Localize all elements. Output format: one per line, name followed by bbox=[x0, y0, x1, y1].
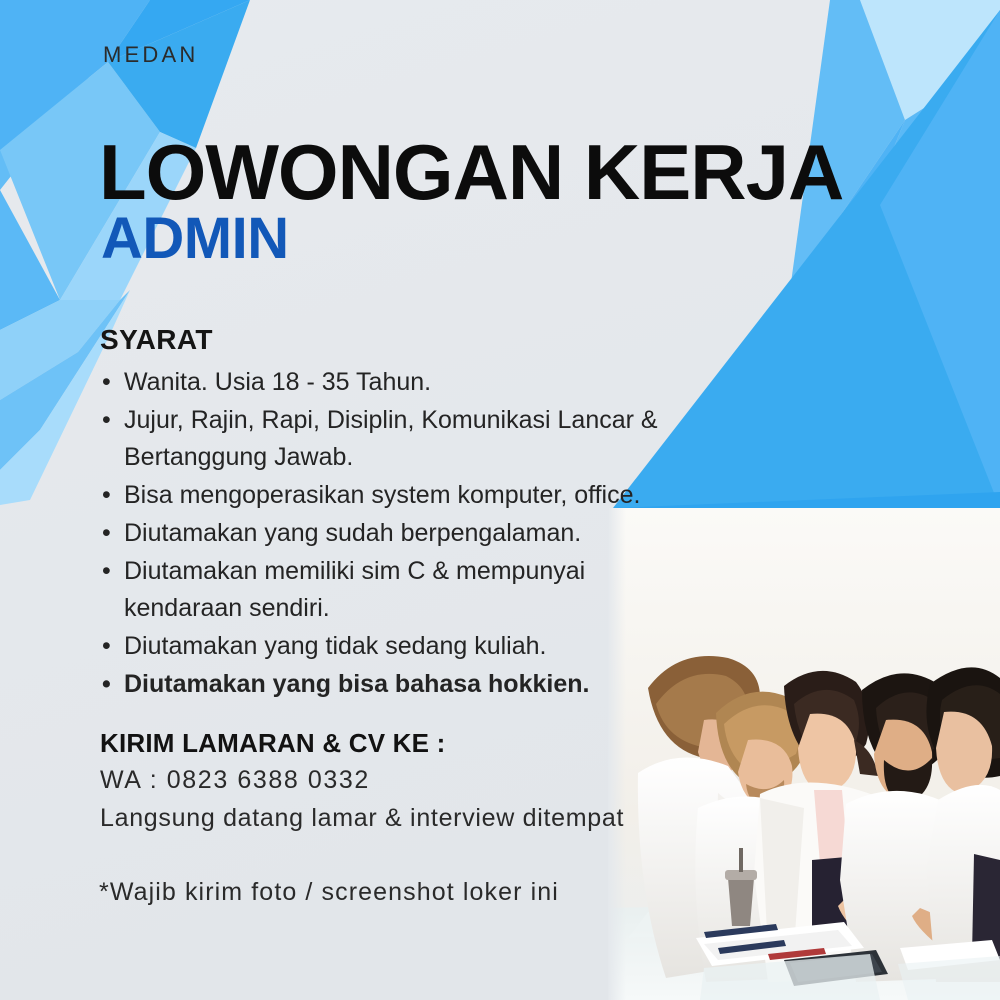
bullet-icon: • bbox=[102, 628, 111, 665]
location-label: MEDAN bbox=[103, 42, 198, 68]
list-item-text: Diutamakan memiliki sim C & mempunyai ke… bbox=[124, 557, 585, 622]
list-item: • Diutamakan yang bisa bahasa hokkien. bbox=[100, 666, 700, 703]
list-item-text: Jujur, Rajin, Rapi, Disiplin, Komunikasi… bbox=[124, 406, 658, 471]
walk-in-note: Langsung datang lamar & interview ditemp… bbox=[100, 804, 624, 833]
list-item: • Diutamakan memiliki sim C & mempunyai … bbox=[100, 553, 700, 627]
page-title: LOWONGAN KERJA bbox=[99, 130, 843, 214]
list-item-text: Wanita. Usia 18 - 35 Tahun. bbox=[124, 368, 431, 396]
list-item-text: Diutamakan yang sudah berpengalaman. bbox=[124, 519, 581, 547]
bullet-icon: • bbox=[102, 666, 111, 703]
bullet-icon: • bbox=[102, 553, 111, 590]
job-poster: MEDAN LOWONGAN KERJA ADMIN SYARAT • Wani… bbox=[0, 0, 1000, 1000]
contact-heading: KIRIM LAMARAN & CV KE : bbox=[100, 728, 445, 759]
list-item: • Diutamakan yang sudah berpengalaman. bbox=[100, 515, 700, 552]
bullet-icon: • bbox=[102, 402, 111, 439]
list-item: • Wanita. Usia 18 - 35 Tahun. bbox=[100, 364, 700, 401]
bullet-icon: • bbox=[102, 515, 111, 552]
list-item-text: Bisa mengoperasikan system komputer, off… bbox=[124, 481, 640, 509]
bullet-icon: • bbox=[102, 364, 111, 401]
bullet-icon: • bbox=[102, 477, 111, 514]
footnote: *Wajib kirim foto / screenshot loker ini bbox=[99, 878, 559, 907]
requirements-heading: SYARAT bbox=[100, 324, 213, 356]
job-role-title: ADMIN bbox=[101, 208, 289, 270]
poster-content: MEDAN LOWONGAN KERJA ADMIN SYARAT • Wani… bbox=[0, 0, 1000, 1000]
list-item-text: Diutamakan yang bisa bahasa hokkien. bbox=[124, 670, 589, 698]
whatsapp-number: WA : 0823 6388 0332 bbox=[100, 766, 370, 795]
list-item: • Diutamakan yang tidak sedang kuliah. bbox=[100, 628, 700, 665]
list-item: • Jujur, Rajin, Rapi, Disiplin, Komunika… bbox=[100, 402, 700, 476]
requirements-list: • Wanita. Usia 18 - 35 Tahun. • Jujur, R… bbox=[100, 364, 700, 704]
list-item-text: Diutamakan yang tidak sedang kuliah. bbox=[124, 632, 547, 660]
list-item: • Bisa mengoperasikan system komputer, o… bbox=[100, 477, 700, 514]
